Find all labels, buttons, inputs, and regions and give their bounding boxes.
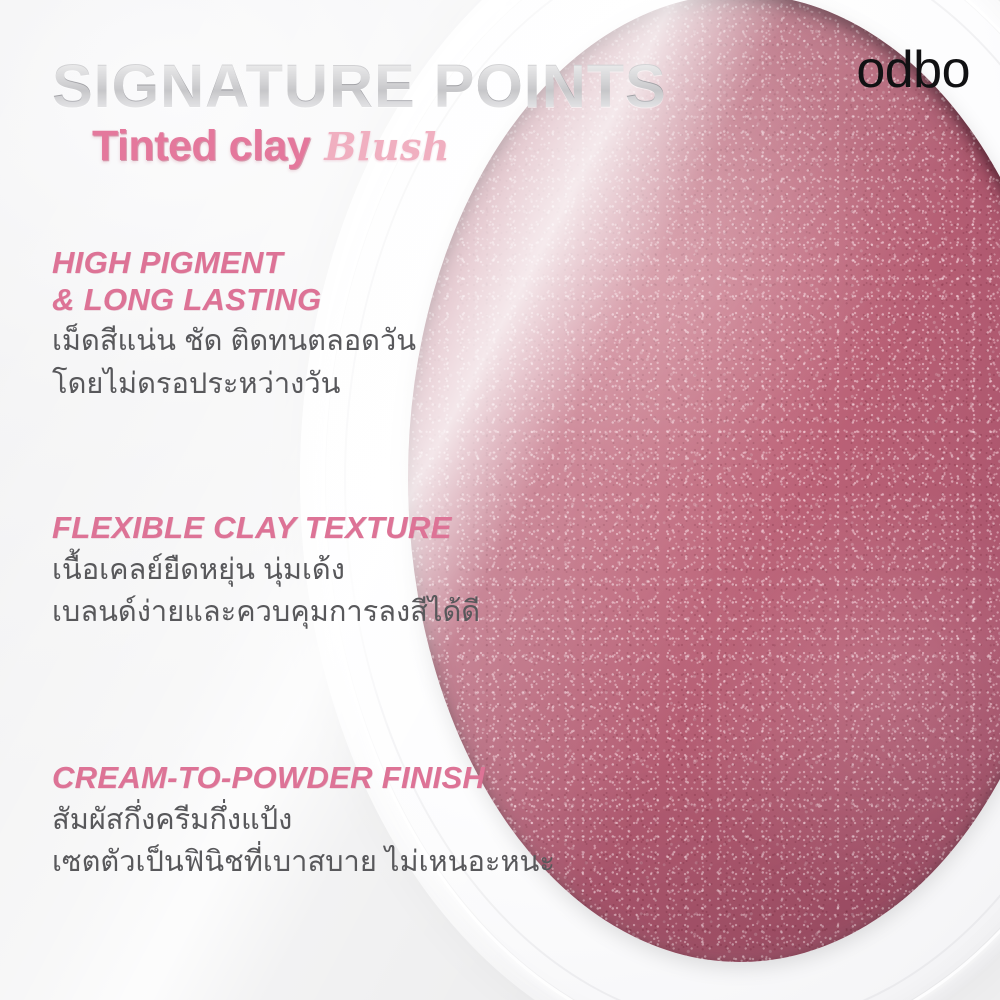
feature-heading-line1: CREAM-TO-POWDER FINISH [52, 760, 555, 797]
feature-body-line1: สัมผัสกึ่งครีมกึ่งแป้ง [52, 801, 555, 840]
subtitle-main: Tinted clay [92, 122, 310, 171]
page-title: SIGNATURE POINTS [52, 58, 732, 116]
product-marketing-canvas: odbo SIGNATURE POINTS Tinted clay Blush … [0, 0, 1000, 1000]
feature-body-line2: โดยไม่ดรอประหว่างวัน [52, 365, 416, 404]
subtitle-script: Blush [324, 124, 450, 169]
feature-body-line2: เบลนด์ง่ายและควบคุมการลงสีได้ดี [52, 593, 480, 632]
feature-heading-line1: HIGH PIGMENT [52, 245, 416, 282]
feature-body-line1: เม็ดสีแน่น ชัด ติดทนตลอดวัน [52, 322, 416, 361]
feature-item: HIGH PIGMENT & LONG LASTING เม็ดสีแน่น ช… [52, 245, 416, 404]
subtitle-row: Tinted clay Blush [92, 122, 732, 171]
title-block: SIGNATURE POINTS Tinted clay Blush [52, 58, 732, 171]
feature-heading-line2: & LONG LASTING [52, 282, 416, 319]
feature-body-line2: เซตตัวเป็นฟินิชที่เบาสบาย ไม่เหนอะหนะ [52, 843, 555, 882]
feature-heading-line1: FLEXIBLE CLAY TEXTURE [52, 510, 480, 547]
feature-item: CREAM-TO-POWDER FINISH สัมผัสกึ่งครีมกึ่… [52, 760, 555, 882]
feature-item: FLEXIBLE CLAY TEXTURE เนื้อเคลย์ยืดหยุ่น… [52, 510, 480, 632]
feature-body-line1: เนื้อเคลย์ยืดหยุ่น นุ่มเด้ง [52, 551, 480, 590]
brand-logo: odbo [856, 44, 970, 96]
